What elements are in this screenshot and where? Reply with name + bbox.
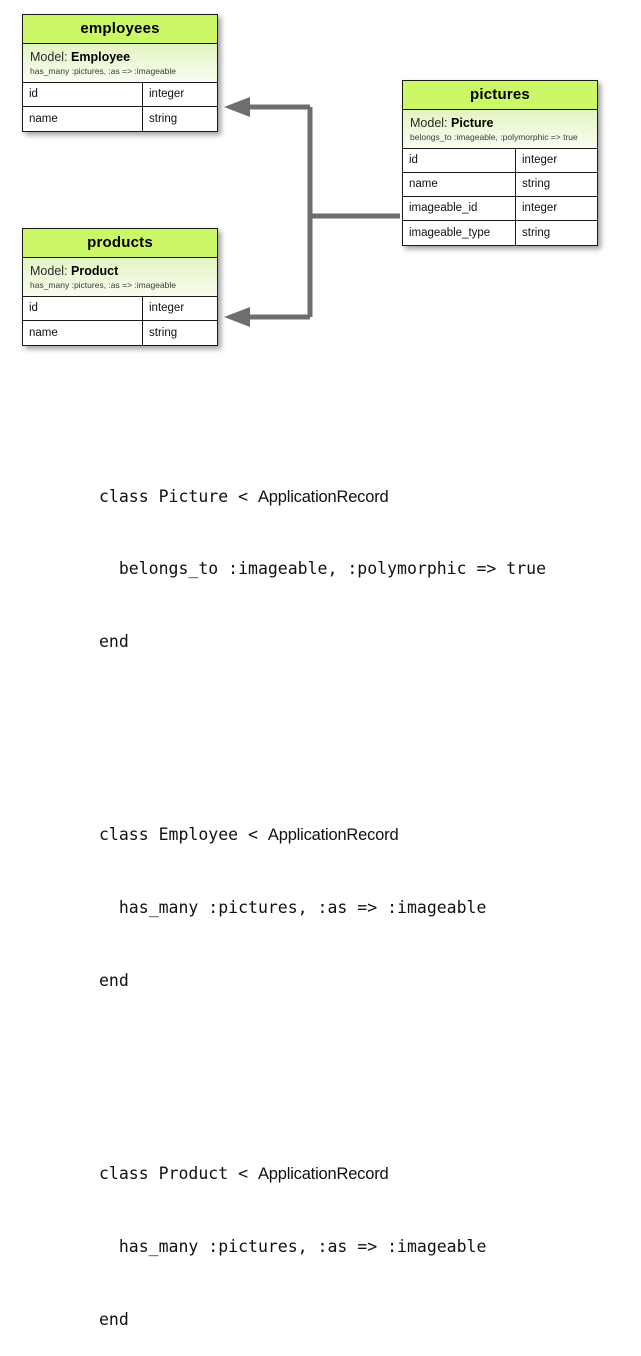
code-classname: Picture: [159, 487, 229, 506]
er-column-row: imageable_id integer: [403, 197, 597, 221]
code-line: class Product < ApplicationRecord: [99, 1162, 619, 1186]
er-model-section: Model: Picture belongs_to :imageable, :p…: [403, 110, 597, 149]
code-blank-line: [99, 1041, 619, 1065]
er-model-label: Model:: [30, 264, 68, 278]
er-column-row: name string: [403, 173, 597, 197]
er-column-row: id integer: [403, 149, 597, 173]
code-block: class Picture < ApplicationRecord belong…: [99, 412, 619, 1356]
er-model-label: Model:: [410, 116, 448, 130]
er-column-type: integer: [143, 297, 216, 320]
code-line: class Employee < ApplicationRecord: [99, 823, 619, 847]
code-operator: <: [228, 487, 258, 506]
er-model-name: Employee: [71, 50, 130, 64]
er-column-name: id: [403, 149, 516, 172]
er-model-line: Model: Product: [30, 264, 210, 278]
er-column-type: integer: [516, 197, 596, 220]
code-keyword: class: [99, 487, 159, 506]
code-keyword: class: [99, 825, 159, 844]
er-column-row: imageable_type string: [403, 221, 597, 245]
er-column-name: name: [23, 107, 143, 131]
er-column-row: name string: [23, 107, 217, 131]
er-column-name: id: [23, 83, 143, 106]
er-column-name: name: [23, 321, 143, 345]
code-classname: Employee: [159, 825, 238, 844]
code-line: has_many :pictures, :as => :imageable: [99, 1235, 619, 1259]
er-column-name: id: [23, 297, 143, 320]
arrowhead-products-icon: [224, 307, 250, 327]
er-table-employees[interactable]: employees Model: Employee has_many :pict…: [22, 14, 218, 132]
code-line: end: [99, 1308, 619, 1332]
code-line: end: [99, 630, 619, 654]
er-model-association: has_many :pictures, :as => :imageable: [30, 281, 210, 290]
er-model-section: Model: Employee has_many :pictures, :as …: [23, 44, 217, 83]
er-table-title: pictures: [403, 81, 597, 110]
code-line: class Picture < ApplicationRecord: [99, 485, 619, 509]
er-column-type: string: [516, 173, 596, 196]
er-table-title: products: [23, 229, 217, 258]
er-column-row: id integer: [23, 297, 217, 321]
code-keyword: class: [99, 1164, 159, 1183]
er-table-title: employees: [23, 15, 217, 44]
code-superclass: ApplicationRecord: [258, 1165, 389, 1183]
er-model-name: Product: [71, 264, 118, 278]
er-column-name: imageable_type: [403, 221, 516, 245]
code-operator: <: [228, 1164, 258, 1183]
code-line: belongs_to :imageable, :polymorphic => t…: [99, 557, 619, 581]
code-line: end: [99, 969, 619, 993]
code-line: has_many :pictures, :as => :imageable: [99, 896, 619, 920]
er-model-association: belongs_to :imageable, :polymorphic => t…: [410, 133, 590, 142]
er-column-type: string: [143, 107, 216, 131]
er-table-products[interactable]: products Model: Product has_many :pictur…: [22, 228, 218, 346]
code-superclass: ApplicationRecord: [258, 488, 389, 506]
code-operator: <: [238, 825, 268, 844]
er-diagram: employees Model: Employee has_many :pict…: [0, 0, 641, 385]
er-model-label: Model:: [30, 50, 68, 64]
er-column-name: imageable_id: [403, 197, 516, 220]
er-table-pictures[interactable]: pictures Model: Picture belongs_to :imag…: [402, 80, 598, 246]
er-column-type: string: [143, 321, 216, 345]
er-column-row: id integer: [23, 83, 217, 107]
er-column-type: integer: [516, 149, 596, 172]
er-model-association: has_many :pictures, :as => :imageable: [30, 67, 210, 76]
code-superclass: ApplicationRecord: [268, 826, 399, 844]
er-column-type: string: [516, 221, 596, 245]
arrowhead-employees-icon: [224, 97, 250, 117]
er-column-name: name: [403, 173, 516, 196]
er-model-section: Model: Product has_many :pictures, :as =…: [23, 258, 217, 297]
code-blank-line: [99, 702, 619, 726]
code-classname: Product: [159, 1164, 229, 1183]
er-column-type: integer: [143, 83, 216, 106]
er-model-line: Model: Employee: [30, 50, 210, 64]
er-model-name: Picture: [451, 116, 493, 130]
er-model-line: Model: Picture: [410, 116, 590, 130]
er-column-row: name string: [23, 321, 217, 345]
